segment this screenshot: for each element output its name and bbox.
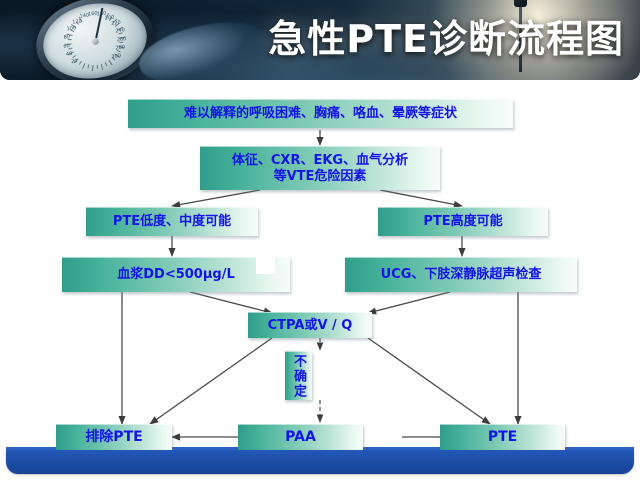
arrow-ctpa-to-exclude [150, 338, 272, 424]
footer-bar [6, 450, 634, 474]
box-pte[interactable]: PTE [440, 424, 565, 451]
box-workup[interactable]: 体征、CXR、EKG、血气分析 等VTE危险因素 [200, 146, 440, 190]
arrow-ucg-to-ctpa [368, 292, 450, 313]
box-pte-high[interactable]: PTE高度可能 [378, 207, 548, 236]
box-paa[interactable]: PAA [238, 424, 363, 451]
arrow-ddimer-to-ctpa [190, 292, 272, 313]
box-ctpa[interactable]: CTPA或V / Q [248, 312, 372, 338]
box-pte-low-mid[interactable]: PTE低度、中度可能 [86, 207, 258, 236]
box-exclude-pte[interactable]: 排除PTE [56, 424, 172, 451]
box-workup-line2: 等VTE危险因素 [274, 169, 367, 185]
arrow-workup-to-high [380, 190, 462, 206]
box-symptoms[interactable]: 难以解释的呼吸困难、胸痛、咯血、晕厥等症状 [128, 99, 513, 128]
box-indeterminate[interactable]: 不确定 [285, 351, 312, 400]
arrow-ctpa-to-pte [368, 338, 490, 424]
diagram-page: 2040608010012014016018020022024026028030… [0, 0, 640, 480]
arrow-workup-to-lowmid [172, 190, 260, 206]
box-ucg[interactable]: UCG、下肢深静脉超声检查 [345, 257, 577, 292]
connector-layer [0, 0, 640, 480]
box-workup-line1: 体征、CXR、EKG、血气分析 [232, 153, 408, 169]
box-d-dimer-notch [256, 257, 275, 274]
